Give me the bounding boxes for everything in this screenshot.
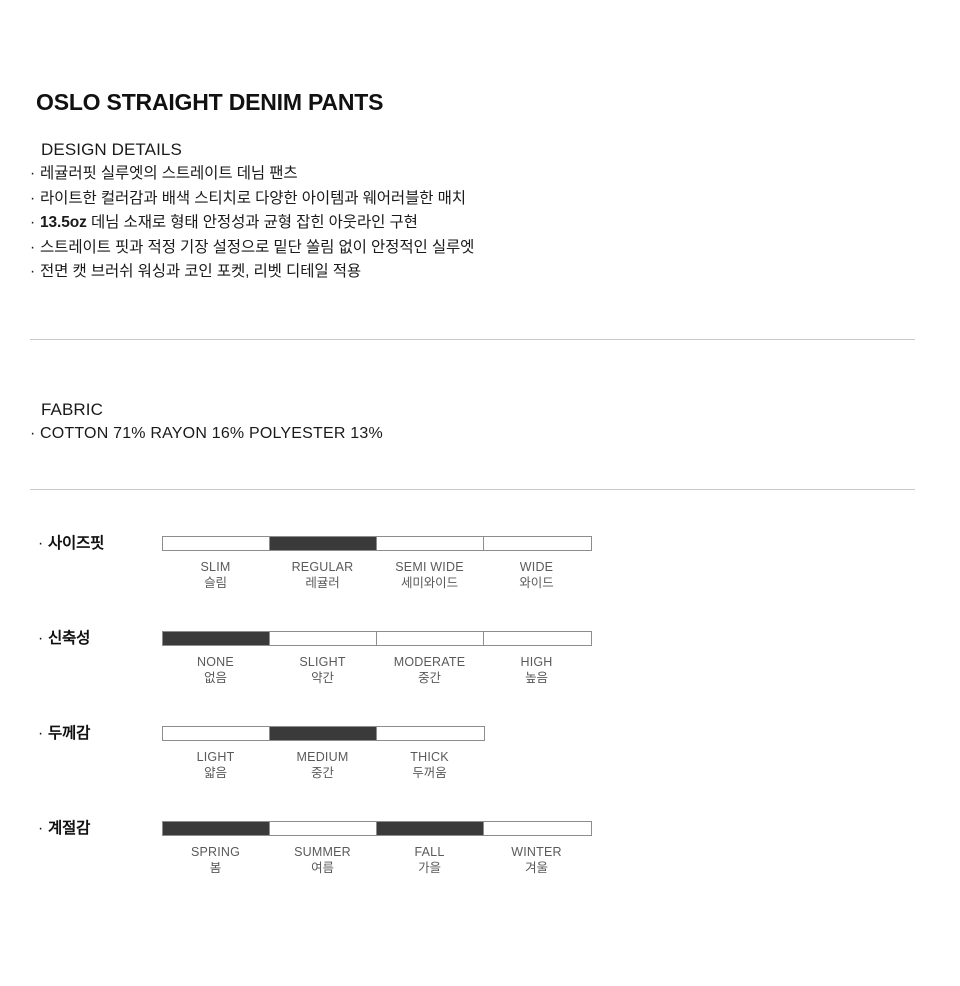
spec-segment: [270, 632, 377, 645]
spec-segment-label-en: WIDE: [483, 560, 590, 576]
list-item-emphasis: 13.5oz: [40, 214, 87, 231]
list-item: ·레귤러핏 실루엣의 스트레이트 데님 팬츠: [30, 162, 474, 187]
spec-segment-label-en: SPRING: [162, 845, 269, 861]
list-item: ·13.5oz 데님 소재로 형태 안정성과 균형 잡힌 아웃라인 구현: [30, 211, 474, 236]
spec-row-label: ·사이즈핏: [38, 531, 104, 553]
spec-segment-label-ko: 얇음: [162, 766, 269, 782]
spec-scale: LIGHT얇음MEDIUM중간THICK두꺼움: [162, 726, 485, 781]
spec-segment-label-en: LIGHT: [162, 750, 269, 766]
list-item-label: 레귤러핏 실루엣의 스트레이트 데님 팬츠: [40, 165, 298, 182]
spec-segment-label: FALL가을: [376, 845, 483, 876]
bullet-marker-icon: ·: [38, 535, 48, 553]
divider-after-fabric: [30, 489, 915, 490]
spec-row-label-text: 계절감: [48, 820, 90, 837]
spec-segment-label: SUMMER여름: [269, 845, 376, 876]
spec-scale-bar: [162, 536, 592, 551]
spec-segment-label-ko: 높음: [483, 671, 590, 687]
spec-segment: [484, 537, 591, 550]
spec-segment-label-en: SEMI WIDE: [376, 560, 483, 576]
fabric-heading: FABRIC: [41, 400, 103, 420]
spec-segment-label: SPRING봄: [162, 845, 269, 876]
list-item-label: 라이트한 컬러감과 배색 스티치로 다양한 아이템과 웨어러블한 매치: [40, 190, 466, 207]
spec-scale-labels: LIGHT얇음MEDIUM중간THICK두꺼움: [162, 750, 485, 781]
list-item-label: COTTON 71% RAYON 16% POLYESTER 13%: [40, 425, 383, 442]
spec-row-label: ·두께감: [38, 721, 90, 743]
list-item-label: 데님 소재로 형태 안정성과 균형 잡힌 아웃라인 구현: [87, 214, 418, 231]
bullet-marker-icon: ·: [30, 422, 40, 447]
spec-row-label-text: 두께감: [48, 725, 90, 742]
page-title: OSLO STRAIGHT DENIM PANTS: [36, 89, 383, 116]
list-item: ·라이트한 컬러감과 배색 스티치로 다양한 아이템과 웨어러블한 매치: [30, 187, 474, 212]
spec-segment-label: WINTER겨울: [483, 845, 590, 876]
spec-segment-label: MEDIUM중간: [269, 750, 376, 781]
spec-segment-label: HIGH높음: [483, 655, 590, 686]
spec-segment-label: THICK두꺼움: [376, 750, 483, 781]
bullet-marker-icon: ·: [30, 211, 40, 236]
list-item: ·COTTON 71% RAYON 16% POLYESTER 13%: [30, 422, 383, 447]
bullet-marker-icon: ·: [38, 630, 48, 648]
spec-scale: NONE없음SLIGHT약간MODERATE중간HIGH높음: [162, 631, 592, 686]
bullet-marker-icon: ·: [30, 187, 40, 212]
spec-row: ·신축성NONE없음SLIGHT약간MODERATE중간HIGH높음: [0, 615, 960, 710]
spec-segment-label-en: THICK: [376, 750, 483, 766]
spec-segment-label-ko: 와이드: [483, 576, 590, 592]
spec-row-label-text: 신축성: [48, 630, 90, 647]
spec-segment-label-ko: 중간: [376, 671, 483, 687]
spec-scale-bar: [162, 821, 592, 836]
spec-segment-label-en: WINTER: [483, 845, 590, 861]
spec-segment-label-ko: 약간: [269, 671, 376, 687]
spec-scale-labels: SPRING봄SUMMER여름FALL가을WINTER겨울: [162, 845, 592, 876]
spec-segment-label: WIDE와이드: [483, 560, 590, 591]
spec-segment: [484, 822, 591, 835]
spec-segment-label-en: SLIM: [162, 560, 269, 576]
spec-segment-label-en: FALL: [376, 845, 483, 861]
spec-row-label-text: 사이즈핏: [48, 535, 104, 552]
spec-segment: [377, 632, 484, 645]
spec-segment-label-en: SUMMER: [269, 845, 376, 861]
spec-segment-label: SLIM슬림: [162, 560, 269, 591]
spec-segment: [377, 537, 484, 550]
spec-segment-label-ko: 세미와이드: [376, 576, 483, 592]
spec-segment-label-ko: 레귤러: [269, 576, 376, 592]
spec-segment-label-en: NONE: [162, 655, 269, 671]
spec-segment-label-ko: 중간: [269, 766, 376, 782]
spec-segment-label-ko: 봄: [162, 861, 269, 877]
bullet-marker-icon: ·: [38, 820, 48, 838]
divider-after-design: [30, 339, 915, 340]
bullet-marker-icon: ·: [30, 260, 40, 285]
spec-row: ·계절감SPRING봄SUMMER여름FALL가을WINTER겨울: [0, 805, 960, 900]
spec-scale-bar: [162, 631, 592, 646]
product-detail-page: OSLO STRAIGHT DENIM PANTS DESIGN DETAILS…: [0, 0, 960, 986]
spec-segment: [377, 727, 484, 740]
design-details-list: ·레귤러핏 실루엣의 스트레이트 데님 팬츠·라이트한 컬러감과 배색 스티치로…: [30, 162, 474, 285]
bullet-marker-icon: ·: [38, 725, 48, 743]
list-item: ·스트레이트 핏과 적정 기장 설정으로 밑단 쏠림 없이 안정적인 실루엣: [30, 236, 474, 261]
spec-segment-label-ko: 슬림: [162, 576, 269, 592]
spec-segment-selected: [163, 822, 270, 835]
spec-row: ·사이즈핏SLIM슬림REGULAR레귤러SEMI WIDE세미와이드WIDE와…: [0, 520, 960, 615]
spec-segment-label: SLIGHT약간: [269, 655, 376, 686]
spec-segment: [163, 537, 270, 550]
spec-scale: SPRING봄SUMMER여름FALL가을WINTER겨울: [162, 821, 592, 876]
spec-row-label: ·계절감: [38, 816, 90, 838]
spec-segment-label-en: REGULAR: [269, 560, 376, 576]
spec-segment-selected: [270, 537, 377, 550]
spec-segment-label: NONE없음: [162, 655, 269, 686]
spec-scale: SLIM슬림REGULAR레귤러SEMI WIDE세미와이드WIDE와이드: [162, 536, 592, 591]
spec-segment-label-en: SLIGHT: [269, 655, 376, 671]
spec-segment-label-ko: 여름: [269, 861, 376, 877]
spec-segment-label-ko: 없음: [162, 671, 269, 687]
spec-scale-bar: [162, 726, 485, 741]
spec-segment-label-en: HIGH: [483, 655, 590, 671]
list-item-label: 스트레이트 핏과 적정 기장 설정으로 밑단 쏠림 없이 안정적인 실루엣: [40, 239, 474, 256]
spec-segment: [484, 632, 591, 645]
bullet-marker-icon: ·: [30, 236, 40, 261]
spec-segment-label-ko: 두꺼움: [376, 766, 483, 782]
spec-segment-selected: [270, 727, 377, 740]
spec-segment: [163, 727, 270, 740]
spec-segment-label: SEMI WIDE세미와이드: [376, 560, 483, 591]
bullet-marker-icon: ·: [30, 162, 40, 187]
spec-row-label: ·신축성: [38, 626, 90, 648]
design-details-heading: DESIGN DETAILS: [41, 140, 182, 160]
spec-scale-labels: NONE없음SLIGHT약간MODERATE중간HIGH높음: [162, 655, 592, 686]
spec-segment-label-en: MODERATE: [376, 655, 483, 671]
spec-segment-label-en: MEDIUM: [269, 750, 376, 766]
spec-segment-label-ko: 가을: [376, 861, 483, 877]
spec-segment-label: REGULAR레귤러: [269, 560, 376, 591]
spec-segment-selected: [163, 632, 270, 645]
list-item-label: 전면 캣 브러쉬 워싱과 코인 포켓, 리벳 디테일 적용: [40, 263, 361, 280]
spec-segment-selected: [377, 822, 484, 835]
spec-segment: [270, 822, 377, 835]
spec-row: ·두께감LIGHT얇음MEDIUM중간THICK두꺼움: [0, 710, 960, 805]
spec-segment-label: MODERATE중간: [376, 655, 483, 686]
list-item: ·전면 캣 브러쉬 워싱과 코인 포켓, 리벳 디테일 적용: [30, 260, 474, 285]
spec-segment-label-ko: 겨울: [483, 861, 590, 877]
spec-segment-label: LIGHT얇음: [162, 750, 269, 781]
fabric-list: ·COTTON 71% RAYON 16% POLYESTER 13%: [30, 422, 383, 447]
spec-scale-labels: SLIM슬림REGULAR레귤러SEMI WIDE세미와이드WIDE와이드: [162, 560, 592, 591]
spec-scales: ·사이즈핏SLIM슬림REGULAR레귤러SEMI WIDE세미와이드WIDE와…: [0, 520, 960, 900]
